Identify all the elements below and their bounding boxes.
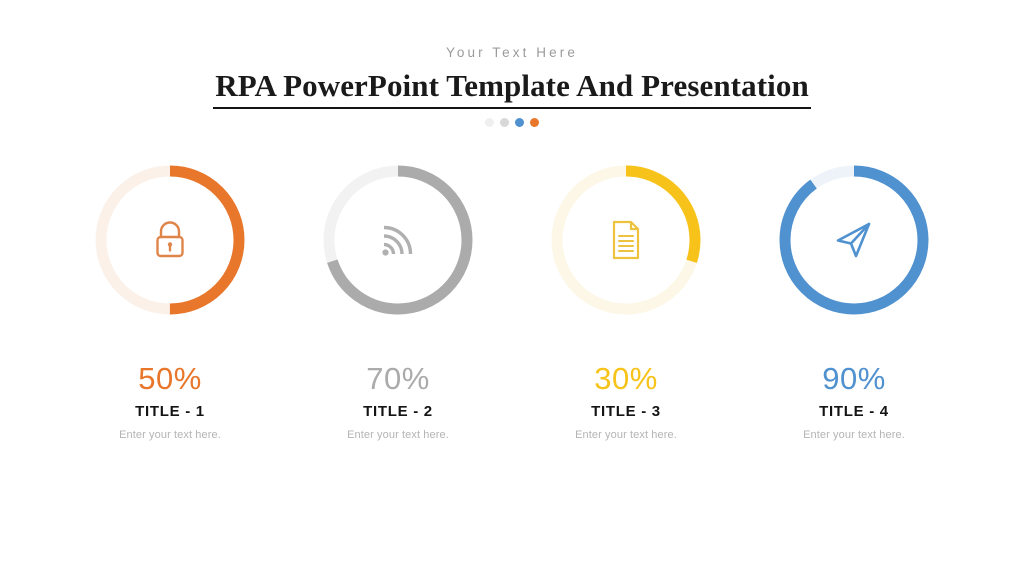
dot-4-icon [530, 118, 539, 127]
gauge-card-3[interactable]: 30% TITLE - 3 Enter your text here. [512, 162, 740, 442]
page-title: RPA PowerPoint Template And Presentation [215, 68, 809, 104]
gauge-card-row: 50% TITLE - 1 Enter your text here. [0, 162, 1024, 442]
document-icon [548, 162, 704, 318]
gauge-percent-3: 30% [594, 362, 658, 396]
donut-gauge-2 [320, 162, 476, 318]
gauge-percent-1: 50% [138, 362, 202, 396]
slide-canvas: Your Text Here RPA PowerPoint Template A… [0, 0, 1024, 576]
dot-3-icon [515, 118, 524, 127]
page-title-underline: RPA PowerPoint Template And Presentation [213, 68, 811, 109]
decorative-dots [0, 118, 1024, 127]
gauge-card-4[interactable]: 90% TITLE - 4 Enter your text here. [740, 162, 968, 442]
gauge-title-1: TITLE - 1 [135, 403, 205, 421]
gauge-title-2: TITLE - 2 [363, 403, 433, 421]
slide-eyebrow-text: Your Text Here [0, 44, 1024, 62]
gauge-card-2[interactable]: 70% TITLE - 2 Enter your text here. [284, 162, 512, 442]
slide-header: Your Text Here RPA PowerPoint Template A… [0, 44, 1024, 127]
gauge-title-3: TITLE - 3 [591, 403, 661, 421]
gauge-desc-1: Enter your text here. [119, 428, 221, 442]
dot-2-icon [500, 118, 509, 127]
gauge-card-1[interactable]: 50% TITLE - 1 Enter your text here. [56, 162, 284, 442]
gauge-percent-2: 70% [366, 362, 430, 396]
gauge-title-4: TITLE - 4 [819, 403, 889, 421]
lock-icon [92, 162, 248, 318]
donut-gauge-4 [776, 162, 932, 318]
donut-gauge-3 [548, 162, 704, 318]
gauge-percent-4: 90% [822, 362, 886, 396]
dot-1-icon [485, 118, 494, 127]
gauge-desc-3: Enter your text here. [575, 428, 677, 442]
gauge-desc-2: Enter your text here. [347, 428, 449, 442]
gauge-desc-4: Enter your text here. [803, 428, 905, 442]
paper-plane-icon [776, 162, 932, 318]
rss-signal-icon [320, 162, 476, 318]
donut-gauge-1 [92, 162, 248, 318]
